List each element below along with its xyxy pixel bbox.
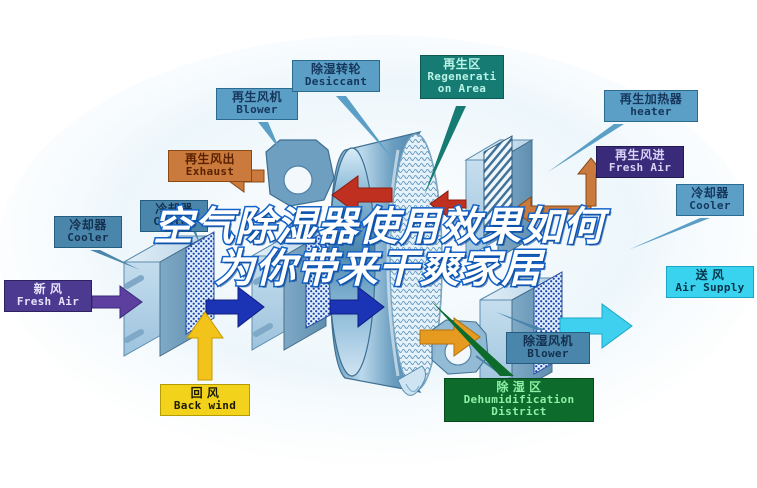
label-air-supply-cn: 送 风 [673,269,747,282]
label-regeneration-area-cn: 再生区 [427,58,497,71]
label-dehum-blower-en: Blower [513,348,583,360]
label-desiccant-wheel: 除湿转轮 Desiccant [292,60,380,92]
label-dehum-blower: 除湿风机 Blower [506,332,590,364]
label-dehum-blower-cn: 除湿风机 [513,335,583,348]
label-cooler-left-2: 冷却器 Cooler [140,200,208,232]
label-regen-exhaust: 再生风出 Exhaust [168,150,252,182]
label-regen-heater-en: heater [611,106,691,118]
label-air-supply-en: Air Supply [673,282,747,294]
label-cooler-right-cn: 冷却器 [683,187,737,200]
label-cooler-left-1: 冷却器 Cooler [54,216,122,248]
desiccant-rotor [329,132,442,395]
label-cooler-right: 冷却器 Cooler [676,184,744,216]
label-cooler-left-1-cn: 冷却器 [61,219,115,232]
label-back-wind: 回 风 Back wind [160,384,250,416]
label-regen-fresh-air-en: Fresh Air [603,162,677,174]
label-regen-blower-cn: 再生风机 [223,91,291,104]
label-fresh-air-in-en: Fresh Air [11,296,85,308]
label-back-wind-en: Back wind [167,400,243,412]
label-regen-fresh-air: 再生风进 Fresh Air [596,146,684,178]
label-regeneration-area: 再生区 Regenerati on Area [420,55,504,99]
label-regen-heater-cn: 再生加热器 [611,93,691,106]
label-dehumidification-district-en: Dehumidification District [451,394,587,418]
dehumidifier-diagram: 再生风机 Blower 除湿转轮 Desiccant 再生区 Regenerat… [0,0,757,488]
label-cooler-left-1-en: Cooler [61,232,115,244]
label-desiccant-wheel-cn: 除湿转轮 [299,63,373,76]
label-cooler-left-2-en: Cooler [147,216,201,228]
label-dehumidification-district-cn: 除 湿 区 [451,381,587,394]
label-regen-fresh-air-cn: 再生风进 [603,149,677,162]
label-regen-blower-en: Blower [223,104,291,116]
label-fresh-air-in: 新 风 Fresh Air [4,280,92,312]
label-regeneration-area-en: Regenerati on Area [427,71,497,95]
label-regen-exhaust-cn: 再生风出 [175,153,245,166]
label-dehumidification-district: 除 湿 区 Dehumidification District [444,378,594,422]
label-cooler-left-2-cn: 冷却器 [147,203,201,216]
label-regen-exhaust-en: Exhaust [175,166,245,178]
regeneration-heater [466,136,532,258]
label-cooler-right-en: Cooler [683,200,737,212]
label-regen-heater: 再生加热器 heater [604,90,698,122]
label-fresh-air-in-cn: 新 风 [11,283,85,296]
label-desiccant-wheel-en: Desiccant [299,76,373,88]
label-back-wind-cn: 回 风 [167,387,243,400]
regeneration-blower [266,140,334,206]
label-air-supply: 送 风 Air Supply [666,266,754,298]
label-regen-blower: 再生风机 Blower [216,88,298,120]
